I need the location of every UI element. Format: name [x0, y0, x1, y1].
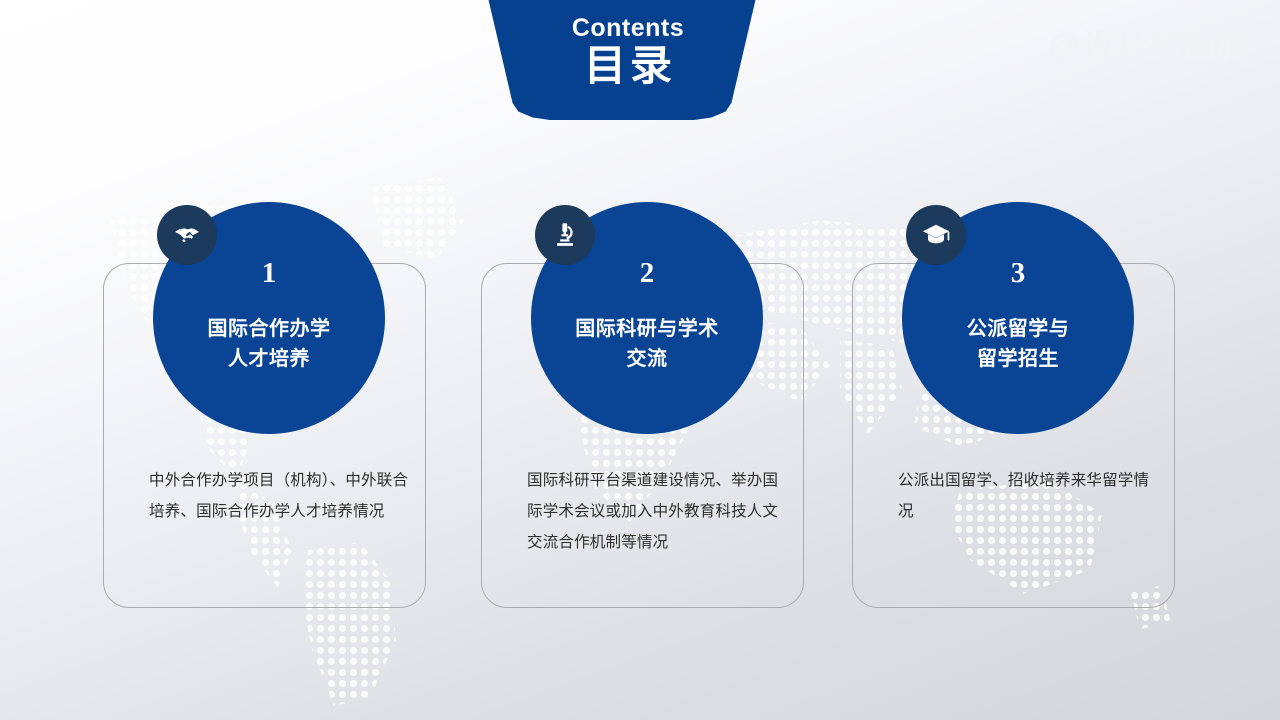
card-body-1: 中外合作办学项目（机构）、中外联合培养、国际合作办学人才培养情况 — [149, 465, 409, 527]
handshake-icon — [157, 205, 217, 265]
circle-number-3: 3 — [1011, 259, 1026, 288]
microscope-icon — [535, 205, 595, 265]
contents-columns: 1 国际合作办学 人才培养 中外合作办学项目（机构）、中外联合培养、国际合作办学… — [0, 0, 1280, 720]
card-body-2: 国际科研平台渠道建设情况、举办国际学术会议或加入中外教育科技人文交流合作机制等情… — [527, 465, 787, 558]
contents-item-3[interactable]: 3 公派留学与 留学招生 公派出国留学、招收培养来华留学情况 — [852, 195, 1177, 615]
card-body-3: 公派出国留学、招收培养来华留学情况 — [898, 465, 1158, 527]
circle-title-1: 国际合作办学 人才培养 — [208, 314, 331, 374]
circle-number-2: 2 — [640, 259, 655, 288]
graduation-cap-icon — [906, 205, 966, 265]
slide-contents: @设计师图腾 Contents 目录 1 国际合作办学 人才培养 — [0, 0, 1280, 720]
contents-item-2[interactable]: 2 国际科研与学术 交流 国际科研平台渠道建设情况、举办国际学术会议或加入中外教… — [481, 195, 806, 615]
circle-title-3: 公派留学与 留学招生 — [967, 314, 1070, 374]
contents-item-1[interactable]: 1 国际合作办学 人才培养 中外合作办学项目（机构）、中外联合培养、国际合作办学… — [103, 195, 428, 615]
circle-title-2: 国际科研与学术 交流 — [575, 314, 719, 374]
circle-number-1: 1 — [262, 259, 277, 288]
